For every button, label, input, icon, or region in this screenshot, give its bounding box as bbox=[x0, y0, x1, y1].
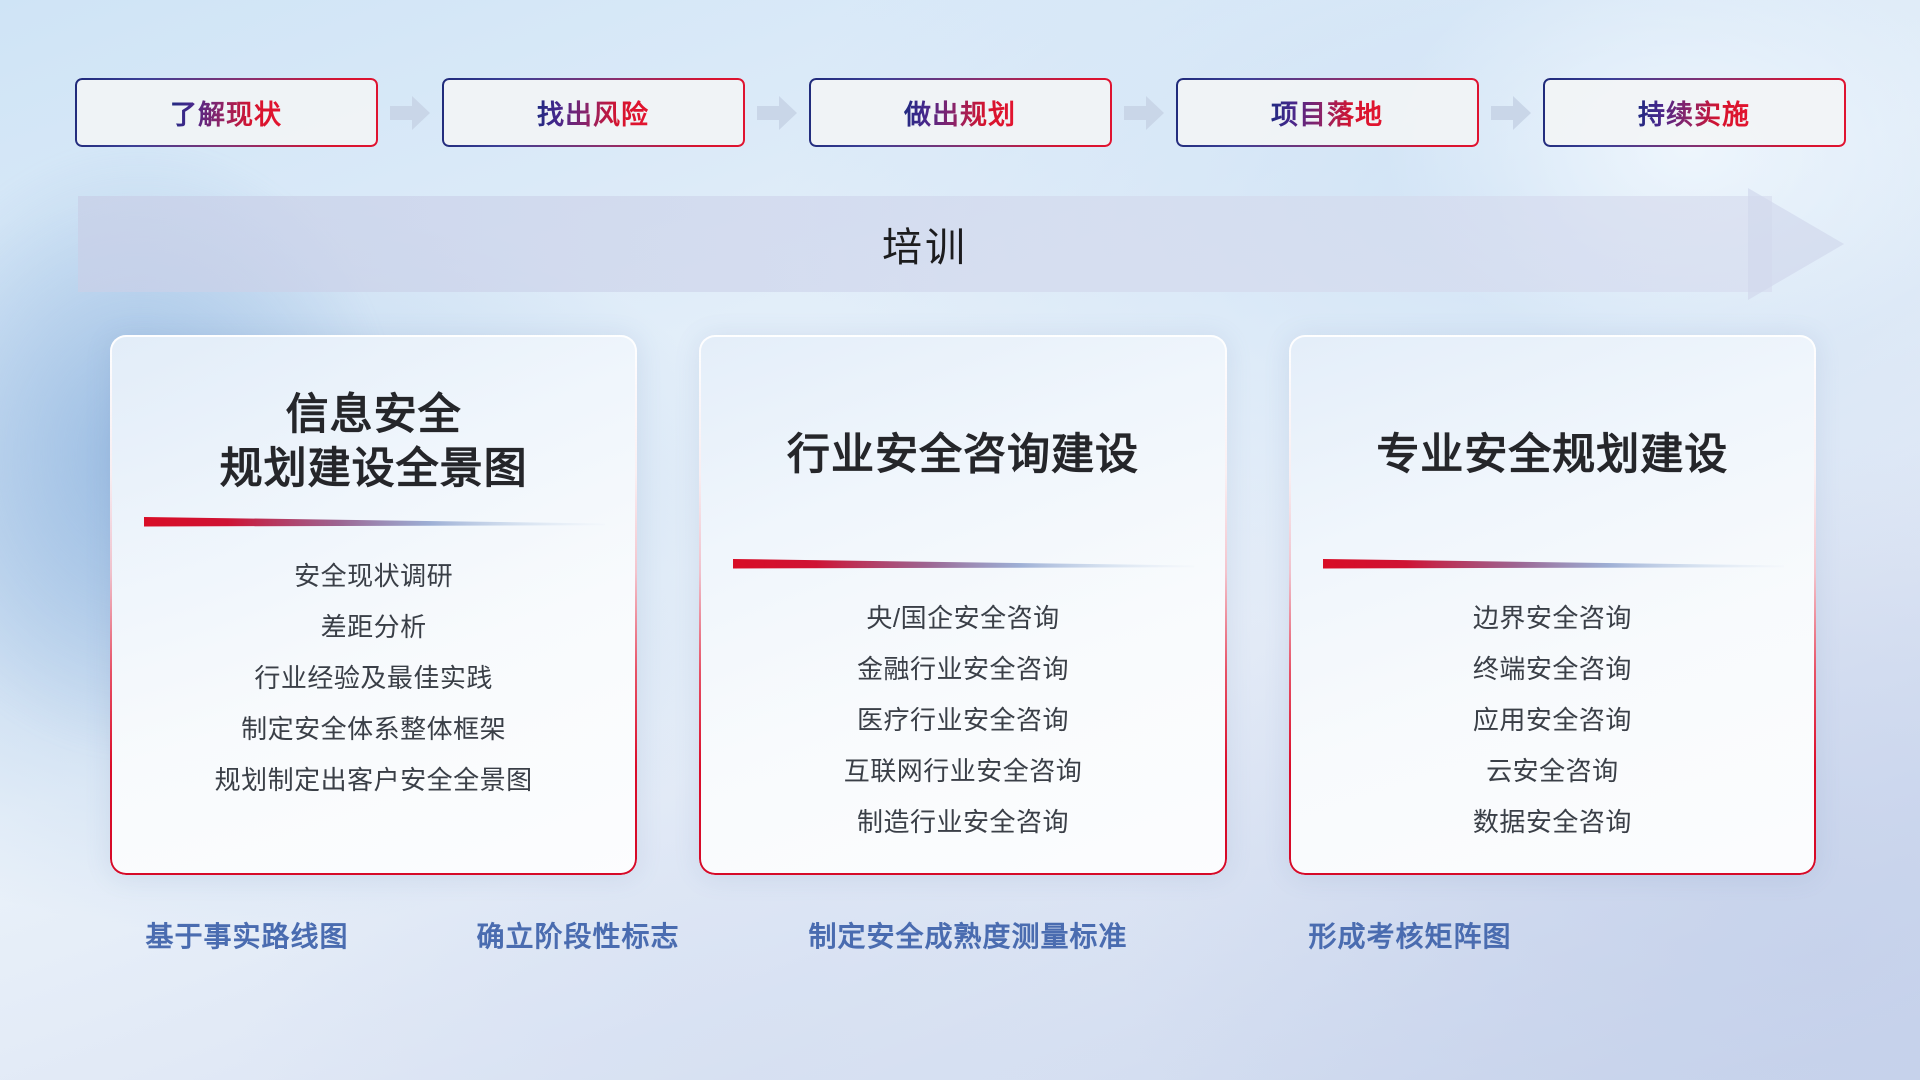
card-list-item[interactable]: 差距分析 bbox=[140, 602, 607, 653]
step-arrow-icon bbox=[378, 91, 442, 135]
card-accent-divider bbox=[731, 555, 1194, 571]
card-list-item[interactable]: 数据安全咨询 bbox=[1319, 797, 1786, 848]
footer-label-2: 确立阶段性标志 bbox=[476, 915, 679, 955]
card-item-list: 安全现状调研差距分析行业经验及最佳实践制定安全体系整体框架规划制定出客户安全全景… bbox=[140, 551, 607, 806]
step-label: 了解现状 bbox=[170, 93, 282, 132]
step-box-5[interactable]: 持续实施 bbox=[1543, 78, 1846, 147]
card-list-item[interactable]: 安全现状调研 bbox=[140, 551, 607, 602]
step-box-2[interactable]: 找出风险 bbox=[442, 78, 745, 147]
info-card-3[interactable]: 专业安全规划建设边界安全咨询终端安全咨询应用安全咨询云安全咨询数据安全咨询 bbox=[1289, 335, 1816, 875]
card-list-item[interactable]: 央/国企安全咨询 bbox=[729, 593, 1196, 644]
step-arrow-icon bbox=[1112, 91, 1176, 135]
step-box-1[interactable]: 了解现状 bbox=[75, 78, 378, 147]
slide-canvas: 了解现状找出风险做出规划项目落地持续实施 培训 信息安全 规划建设全景图安全现状… bbox=[0, 0, 1920, 1080]
card-item-list: 边界安全咨询终端安全咨询应用安全咨询云安全咨询数据安全咨询 bbox=[1319, 593, 1786, 848]
card-accent-divider bbox=[142, 513, 605, 529]
card-title: 信息安全 规划建设全景图 bbox=[140, 389, 607, 497]
card-accent-divider bbox=[1321, 555, 1784, 571]
card-list-item[interactable]: 互联网行业安全咨询 bbox=[729, 746, 1196, 797]
footer-label-1: 基于事实路线图 bbox=[145, 915, 348, 955]
card-list-item[interactable]: 行业经验及最佳实践 bbox=[140, 653, 607, 704]
card-list-item[interactable]: 制定安全体系整体框架 bbox=[140, 704, 607, 755]
card-list-item[interactable]: 制造行业安全咨询 bbox=[729, 797, 1196, 848]
step-label: 找出风险 bbox=[537, 93, 649, 132]
info-card-1[interactable]: 信息安全 规划建设全景图安全现状调研差距分析行业经验及最佳实践制定安全体系整体框… bbox=[110, 335, 637, 875]
card-title: 行业安全咨询建设 bbox=[729, 429, 1196, 483]
step-box-3[interactable]: 做出规划 bbox=[809, 78, 1112, 147]
card-title: 专业安全规划建设 bbox=[1319, 429, 1786, 483]
step-arrow-icon bbox=[1479, 91, 1543, 135]
info-card-2[interactable]: 行业安全咨询建设央/国企安全咨询金融行业安全咨询医疗行业安全咨询互联网行业安全咨… bbox=[699, 335, 1226, 875]
card-list-item[interactable]: 医疗行业安全咨询 bbox=[729, 695, 1196, 746]
banner-label: 培训 bbox=[78, 196, 1772, 292]
step-arrow-icon bbox=[745, 91, 809, 135]
card-list-item[interactable]: 边界安全咨询 bbox=[1319, 593, 1786, 644]
card-list-item[interactable]: 金融行业安全咨询 bbox=[729, 644, 1196, 695]
card-row: 信息安全 规划建设全景图安全现状调研差距分析行业经验及最佳实践制定安全体系整体框… bbox=[110, 335, 1816, 875]
footer-label-4: 形成考核矩阵图 bbox=[1308, 915, 1511, 955]
step-label: 持续实施 bbox=[1638, 93, 1750, 132]
card-item-list: 央/国企安全咨询金融行业安全咨询医疗行业安全咨询互联网行业安全咨询制造行业安全咨… bbox=[729, 593, 1196, 848]
card-list-item[interactable]: 应用安全咨询 bbox=[1319, 695, 1786, 746]
card-list-item[interactable]: 终端安全咨询 bbox=[1319, 644, 1786, 695]
card-list-item[interactable]: 云安全咨询 bbox=[1319, 746, 1786, 797]
footer-label-3: 制定安全成熟度测量标准 bbox=[808, 915, 1127, 955]
footer-label-row: 基于事实路线图确立阶段性标志制定安全成熟度测量标准形成考核矩阵图 bbox=[0, 915, 1920, 965]
training-banner: 培训 bbox=[78, 196, 1844, 292]
step-label: 项目落地 bbox=[1271, 93, 1383, 132]
card-list-item[interactable]: 规划制定出客户安全全景图 bbox=[140, 755, 607, 806]
step-box-4[interactable]: 项目落地 bbox=[1176, 78, 1479, 147]
process-step-row: 了解现状找出风险做出规划项目落地持续实施 bbox=[0, 78, 1920, 147]
step-label: 做出规划 bbox=[904, 93, 1016, 132]
